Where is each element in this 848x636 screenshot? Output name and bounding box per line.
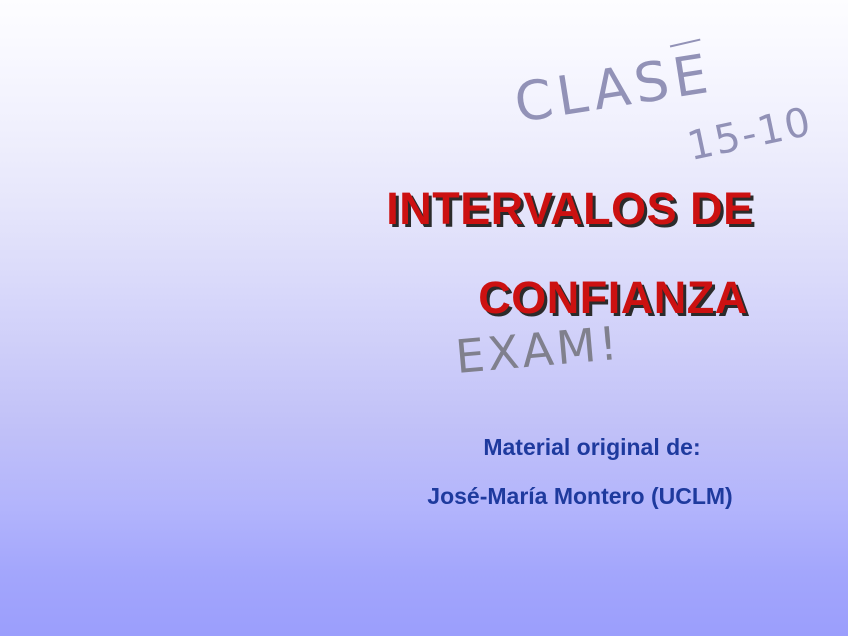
handwritten-annotation-clase: CLASE xyxy=(510,42,717,135)
slide-title-line-1: INTERVALOS DE xyxy=(320,186,820,231)
handwritten-clase-text: CLASE xyxy=(510,42,717,135)
presentation-slide: CLASE 15-10 EXAM! INTERVALOS DE CONFIANZ… xyxy=(0,0,848,636)
handwritten-date-text: 15-10 xyxy=(683,99,816,170)
slide-title-line-2: CONFIANZA xyxy=(320,275,820,320)
handwritten-annotation-date: 15-10 xyxy=(683,99,816,170)
slide-subtitle-line-2: José-María Montero (UCLM) xyxy=(330,485,830,508)
slide-subtitle: Material original de: José-María Montero… xyxy=(330,436,830,508)
handwritten-annotation-exam: EXAM! xyxy=(453,316,622,384)
slide-subtitle-line-1: Material original de: xyxy=(330,436,830,459)
slide-title: INTERVALOS DE CONFIANZA xyxy=(320,186,820,320)
handwritten-exam-text: EXAM! xyxy=(453,316,622,384)
